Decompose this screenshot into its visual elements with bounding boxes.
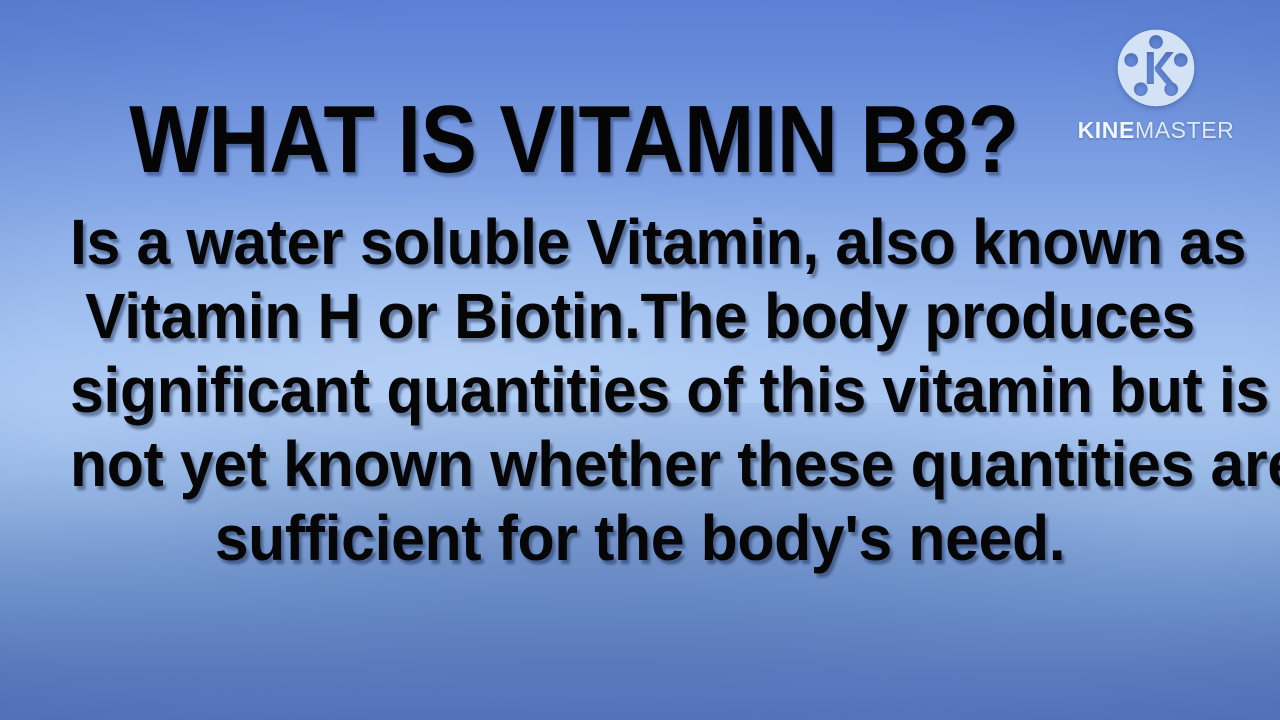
page-title: WHAT IS VITAMIN B8? [77, 92, 1203, 188]
body-line-3: significant quantities of this vitamin b… [70, 353, 1210, 427]
kinemaster-brand-primary: KINE [1078, 117, 1135, 143]
body-line-2: Vitamin H or Biotin.The body produces [70, 279, 1210, 353]
body-paragraph: Is a water soluble Vitamin, also known a… [70, 205, 1210, 575]
kinemaster-wordmark: KINEMASTER [1078, 119, 1235, 142]
body-line-5: sufficient for the body's need. [70, 501, 1210, 575]
kinemaster-watermark: KINEMASTER [1066, 28, 1246, 142]
body-line-4: not yet known whether these quantities a… [70, 427, 1210, 501]
kinemaster-brand-secondary: MASTER [1135, 117, 1234, 143]
kinemaster-k-logo-icon [1116, 28, 1196, 108]
body-line-1: Is a water soluble Vitamin, also known a… [70, 205, 1210, 279]
slide-canvas: WHAT IS VITAMIN B8? Is a water soluble V… [0, 0, 1280, 720]
